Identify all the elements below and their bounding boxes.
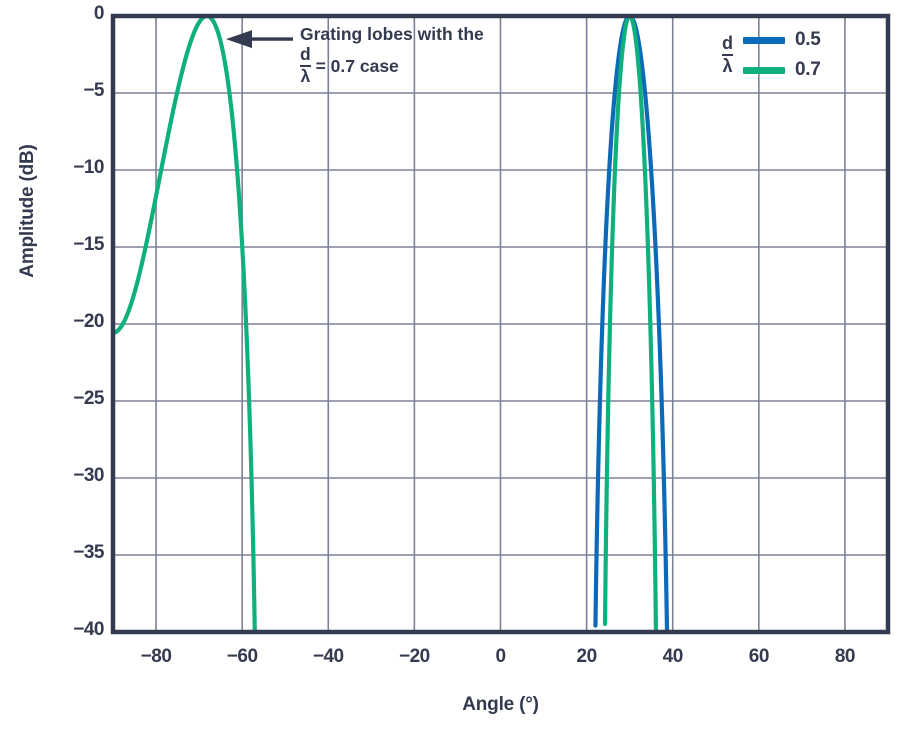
y-tick-label: −10 [44,157,104,179]
y-tick-label: −35 [44,542,104,564]
y-tick-label: 0 [44,3,104,25]
x-tick-label: −20 [374,646,454,668]
x-tick-label: 60 [719,646,799,668]
legend-label-0: 0.5 [795,29,821,51]
annotation-line-2: d λ = 0.7 case [300,45,484,85]
x-tick-label: 80 [805,646,885,668]
legend-label-1: 0.7 [795,59,821,81]
legend-swatch-blue [743,37,785,44]
x-tick-label: −80 [116,646,196,668]
x-tick-label: −40 [288,646,368,668]
array-factor-plot [0,0,900,734]
legend: d λ 0.5 0.7 [722,30,821,80]
annotation-line-1: Grating lobes with the [300,24,484,45]
legend-swatch-green [743,67,785,74]
y-tick-label: −40 [44,619,104,641]
legend-fraction-numerator: d [722,34,733,53]
y-tick-label: −5 [44,80,104,102]
d-lambda-fraction: d λ [300,45,311,85]
x-tick-label: 20 [547,646,627,668]
grating-lobe-annotation: Grating lobes with the d λ = 0.7 case [300,24,484,85]
x-axis-label: Angle (°) [113,694,888,716]
chart-figure: Amplitude (dB) Angle (°) 0−5−10−15−20−25… [0,0,900,734]
y-tick-label: −30 [44,465,104,487]
annotation-line-2-tail: = 0.7 case [316,56,399,76]
y-tick-label: −25 [44,388,104,410]
legend-entries: 0.5 0.7 [743,30,821,80]
legend-fraction-denominator: λ [722,57,733,76]
fraction-denominator: λ [300,67,311,85]
y-tick-label: −20 [44,311,104,333]
y-tick-label: −15 [44,234,104,256]
x-tick-label: 0 [461,646,541,668]
x-tick-label: 40 [633,646,713,668]
legend-title-fraction: d λ [722,34,733,76]
legend-item-0[interactable]: 0.5 [743,30,821,50]
y-axis-label: Amplitude (dB) [17,81,39,341]
x-tick-label: −60 [202,646,282,668]
legend-item-1[interactable]: 0.7 [743,60,821,80]
fraction-numerator: d [300,45,311,63]
